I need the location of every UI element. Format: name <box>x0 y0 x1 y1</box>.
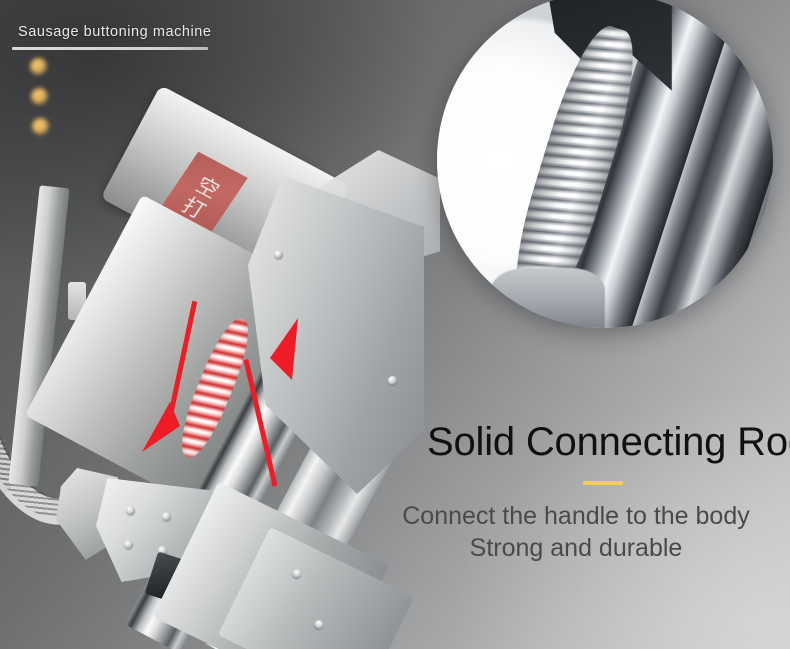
inset-bottom-clip <box>491 268 605 328</box>
rivet <box>126 506 135 515</box>
gold-accent-rule <box>583 481 623 485</box>
rivet <box>388 376 397 385</box>
caption-block: Sausage buttoning machine <box>18 24 212 40</box>
arrow-down-left <box>136 300 216 460</box>
product-feature-banner: 空 打 <box>0 0 790 649</box>
magnified-detail-inset <box>437 0 773 328</box>
rivet <box>124 540 133 549</box>
caption-title: Sausage buttoning machine <box>18 24 212 40</box>
rivet <box>291 568 303 580</box>
feature-headline: Solid Connecting Rod <box>427 420 790 465</box>
feature-subtitle-line-1: Connect the handle to the body <box>370 500 782 532</box>
bullet-dot-3 <box>32 118 49 135</box>
bullet-dot-1 <box>30 58 47 75</box>
feature-subtitle: Connect the handle to the body Strong an… <box>370 500 782 564</box>
rivet <box>274 250 283 259</box>
rivet <box>162 512 171 521</box>
rivet <box>313 619 325 631</box>
bullet-dot-2 <box>31 88 48 105</box>
caption-underline <box>12 47 208 50</box>
arrow-up-right <box>232 318 322 498</box>
feature-subtitle-line-2: Strong and durable <box>370 532 782 564</box>
